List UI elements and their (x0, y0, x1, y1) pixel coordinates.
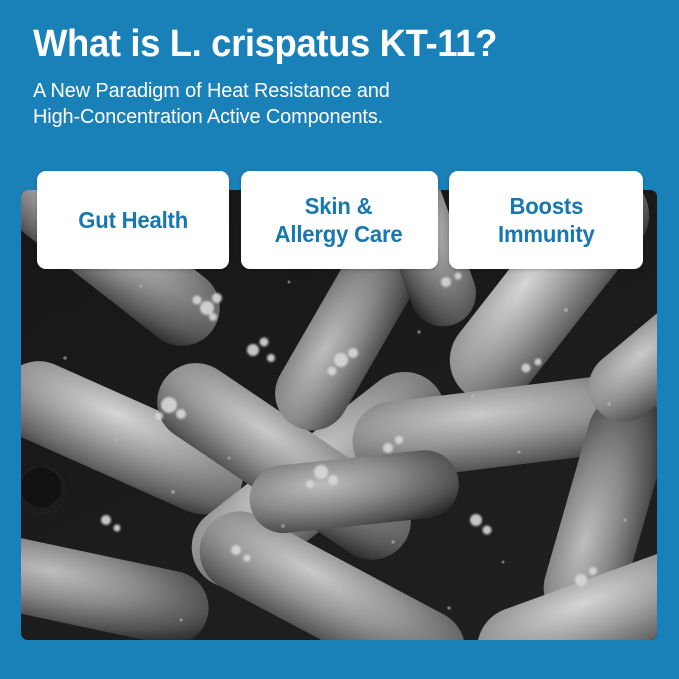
page-title: What is L. crispatus KT-11? (33, 22, 628, 66)
benefit-cards: Gut Health Skin & Allergy Care Boosts Im… (37, 171, 643, 269)
subtitle-line-2: High-Concentration Active Components. (33, 104, 634, 130)
poster: What is L. crispatus KT-11? A New Paradi… (0, 0, 679, 679)
benefit-card-boosts-immunity[interactable]: Boosts Immunity (449, 171, 643, 269)
benefit-card-skin-allergy-care[interactable]: Skin & Allergy Care (241, 171, 438, 269)
header: What is L. crispatus KT-11? A New Paradi… (33, 22, 653, 130)
benefit-card-label: Boosts Immunity (498, 192, 595, 248)
subtitle: A New Paradigm of Heat Resistance and Hi… (33, 78, 634, 130)
subtitle-line-1: A New Paradigm of Heat Resistance and (33, 78, 634, 104)
benefit-card-gut-health[interactable]: Gut Health (37, 171, 229, 269)
benefit-card-label: Gut Health (78, 206, 188, 234)
benefit-card-label: Skin & Allergy Care (275, 192, 403, 248)
